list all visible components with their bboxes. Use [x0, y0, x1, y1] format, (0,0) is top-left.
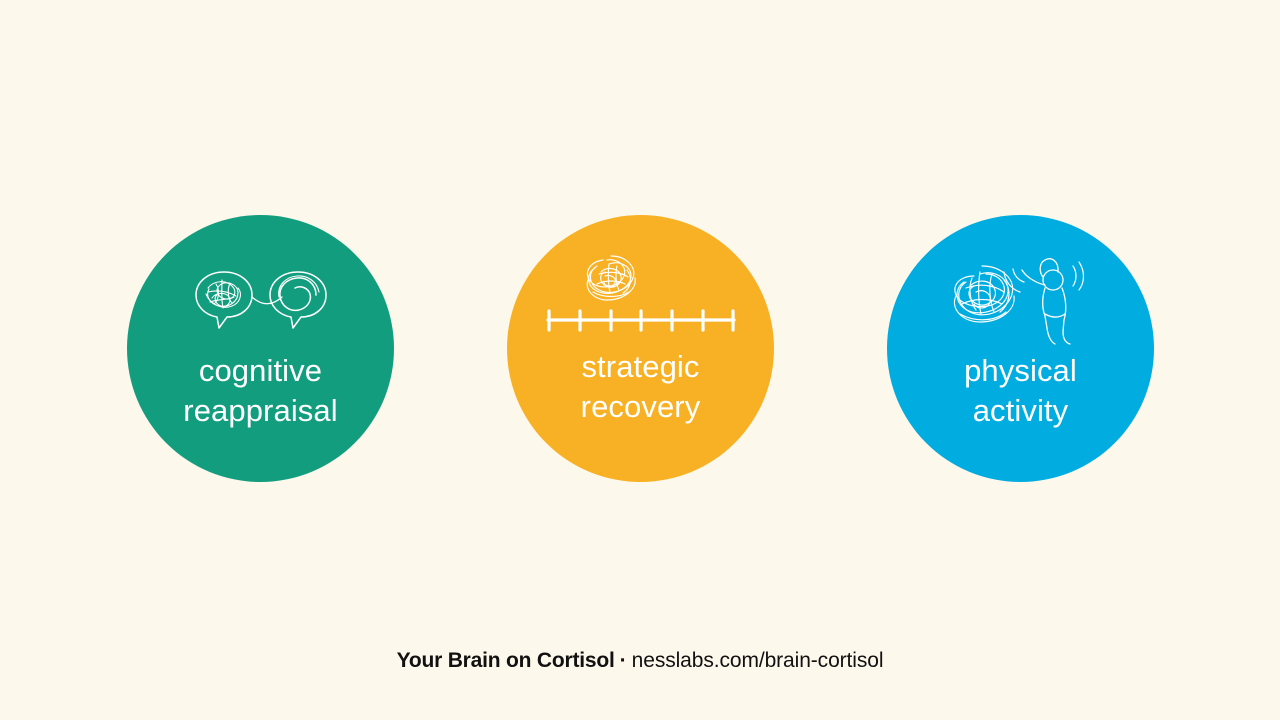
infographic-canvas: cognitive reappraisal: [0, 0, 1280, 720]
concept-circle-cognitive-reappraisal[interactable]: cognitive reappraisal: [127, 215, 394, 482]
concept-label: cognitive reappraisal: [183, 351, 337, 431]
footer-title: Your Brain on Cortisol: [397, 649, 615, 672]
footer-attribution: Your Brain on Cortisol·nesslabs.com/brai…: [0, 646, 1280, 676]
tangled-thought-to-clear-thought-bubbles-icon: [181, 257, 341, 343]
concept-circle-physical-activity[interactable]: physical activity: [887, 215, 1154, 482]
concept-circles-row: cognitive reappraisal: [0, 215, 1280, 483]
tangled-scribble-and-stretching-person-icon: [941, 257, 1101, 343]
footer-url[interactable]: nesslabs.com/brain-cortisol: [632, 649, 884, 672]
footer-separator: ·: [615, 649, 632, 672]
concept-label: physical activity: [964, 351, 1077, 431]
concept-label: strategic recovery: [581, 347, 701, 427]
concept-circle-strategic-recovery[interactable]: strategic recovery: [507, 215, 774, 482]
tangled-scribble-over-timeline-icon: [561, 251, 721, 343]
